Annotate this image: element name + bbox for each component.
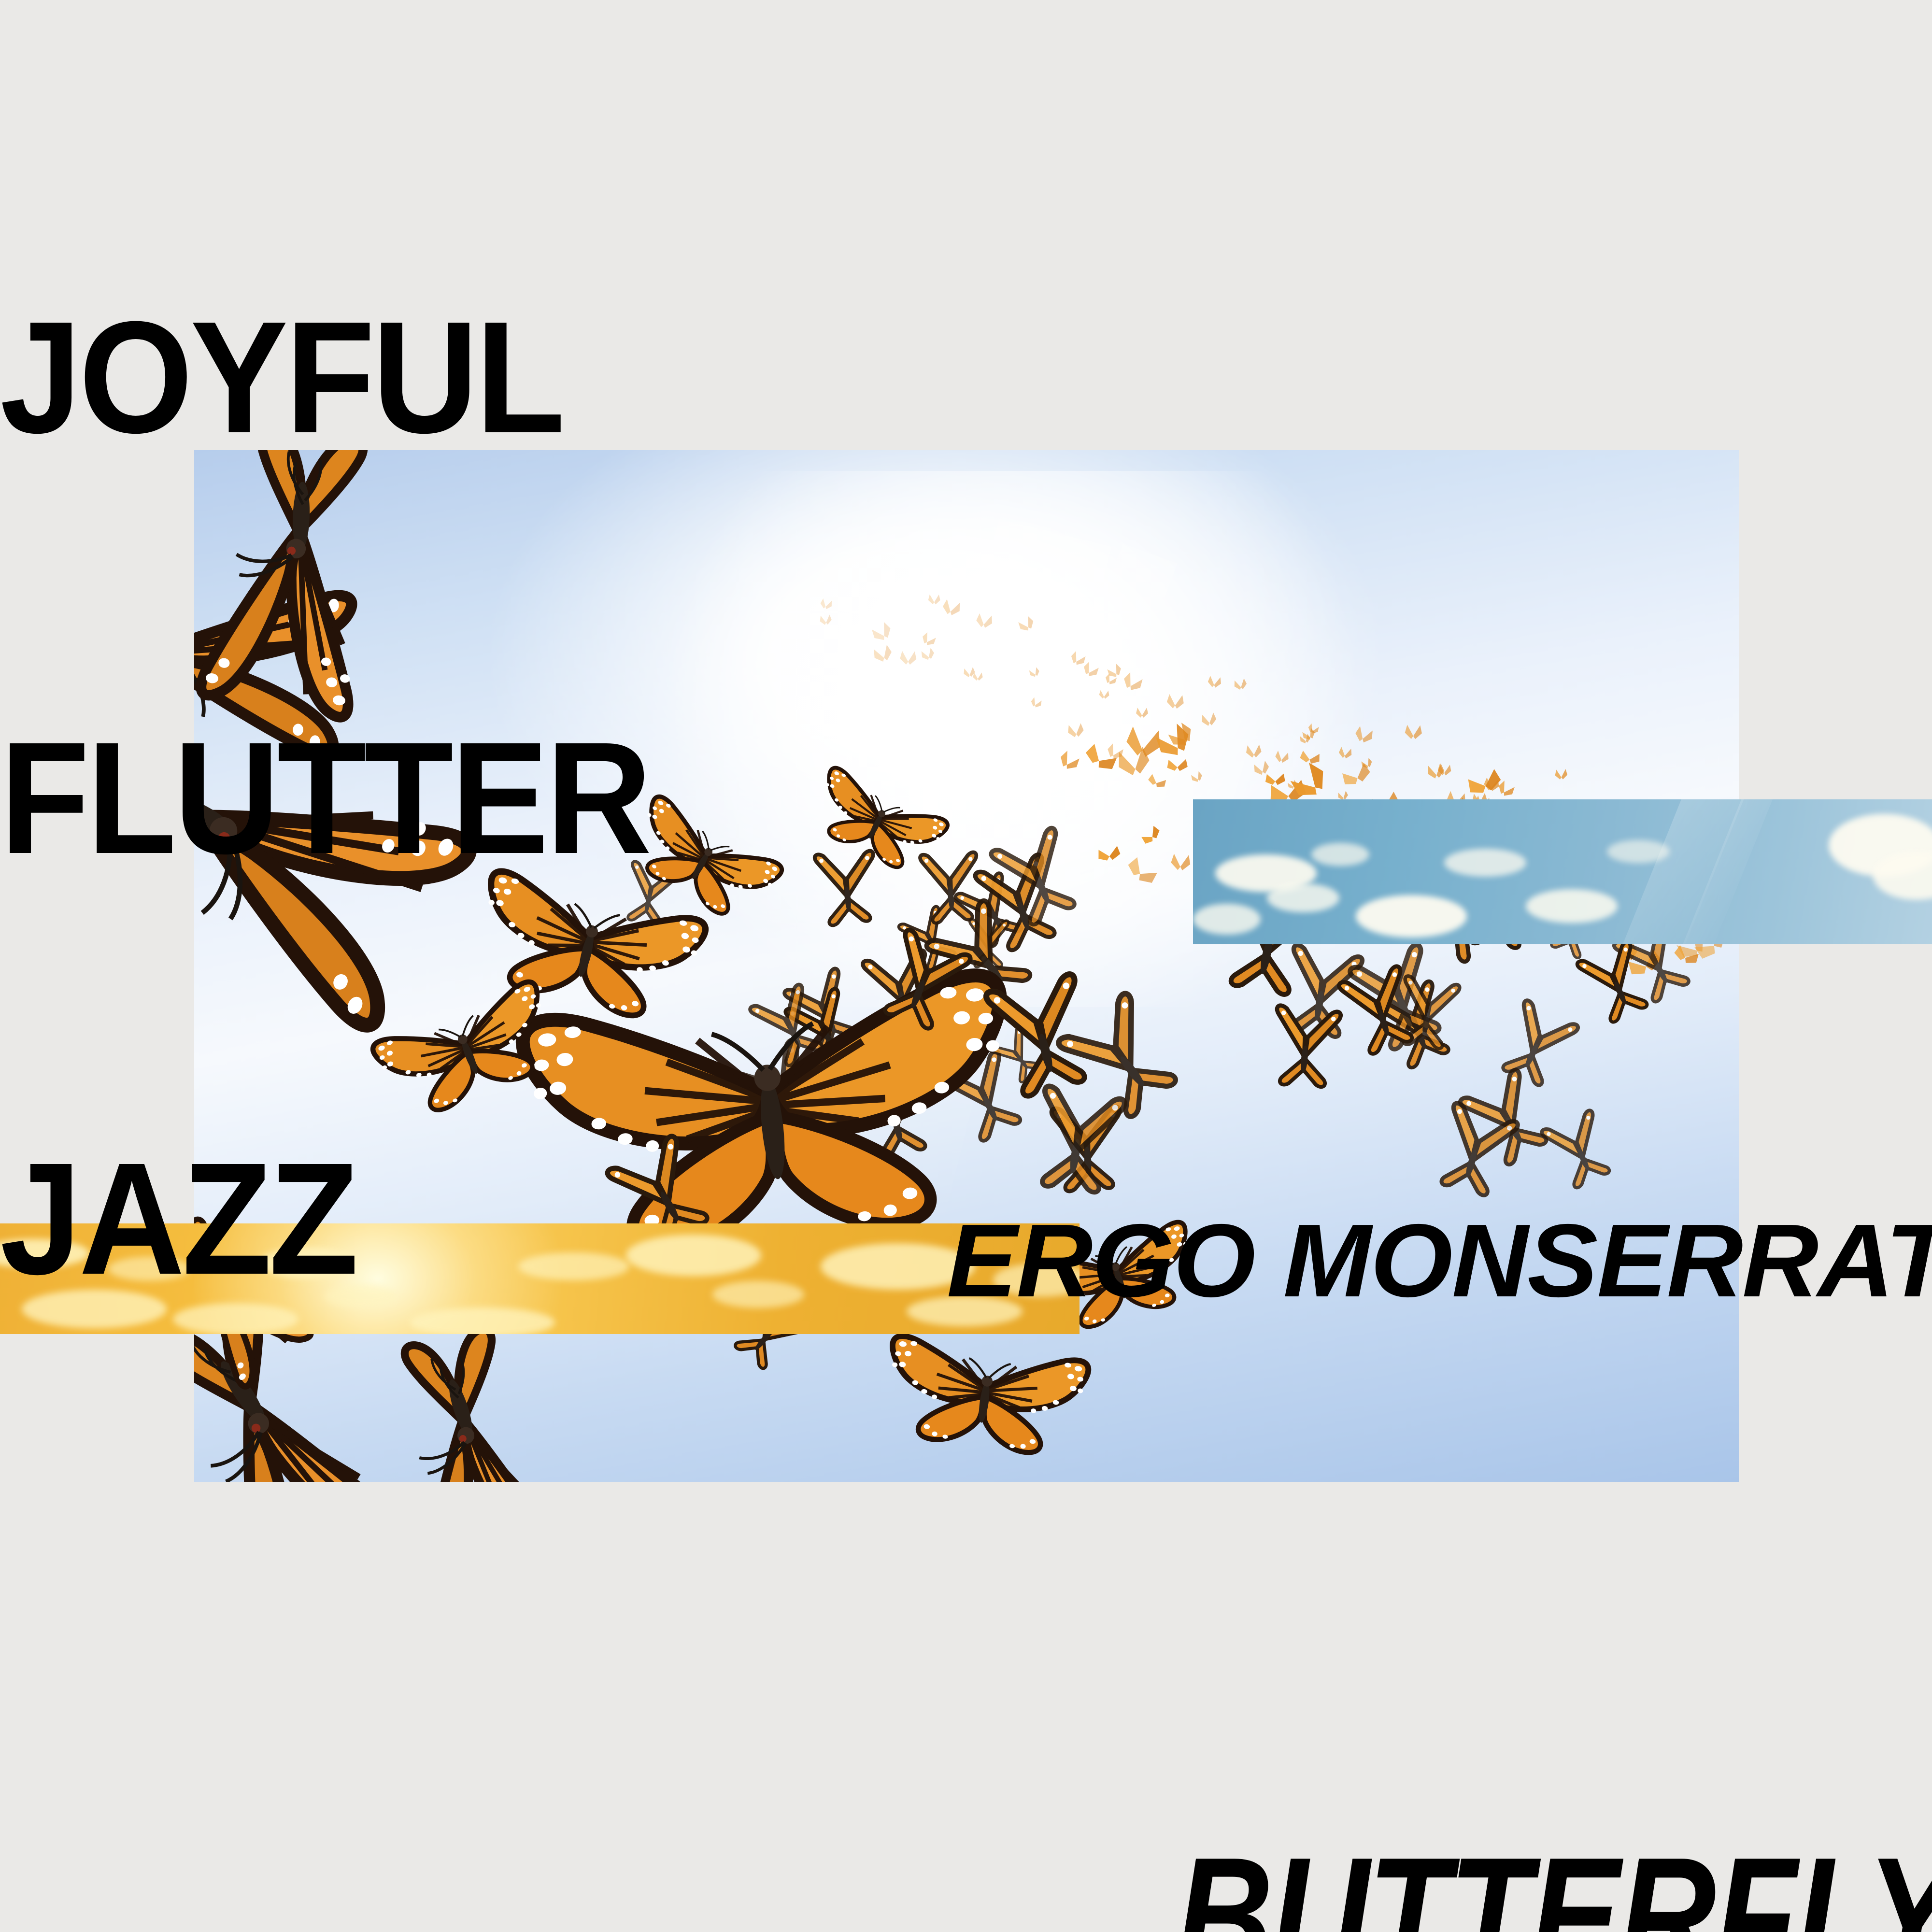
butterfly	[881, 1335, 1090, 1459]
cloud	[1267, 883, 1339, 912]
cloud	[1526, 889, 1618, 923]
cloud	[712, 1281, 804, 1308]
cloud	[1193, 904, 1261, 935]
album-cover: JOYFUL FLUTTER JAZZ ERGO MONSERRAT BUTTE…	[0, 0, 1932, 1932]
title-line-2: FLUTTER	[0, 728, 649, 868]
band-name: BUTTERFLY JAZZ BAND	[1175, 1524, 1932, 1932]
cloud	[1311, 843, 1369, 866]
band-line-1: BUTTERFLY	[1175, 1838, 1932, 1932]
butterfly	[1577, 940, 1657, 1026]
butterfly	[1338, 964, 1422, 1057]
title-line-3: JAZZ	[0, 1149, 649, 1289]
butterfly	[805, 766, 950, 881]
artist-name: ERGO MONSERRAT	[947, 1208, 1932, 1312]
blue-sky-strip	[1193, 799, 1932, 944]
cloud	[1444, 849, 1526, 877]
album-title: JOYFUL FLUTTER JAZZ	[0, 27, 649, 1569]
title-line-1: JOYFUL	[0, 307, 649, 447]
cloud	[1607, 840, 1670, 863]
cloud	[1356, 895, 1467, 938]
